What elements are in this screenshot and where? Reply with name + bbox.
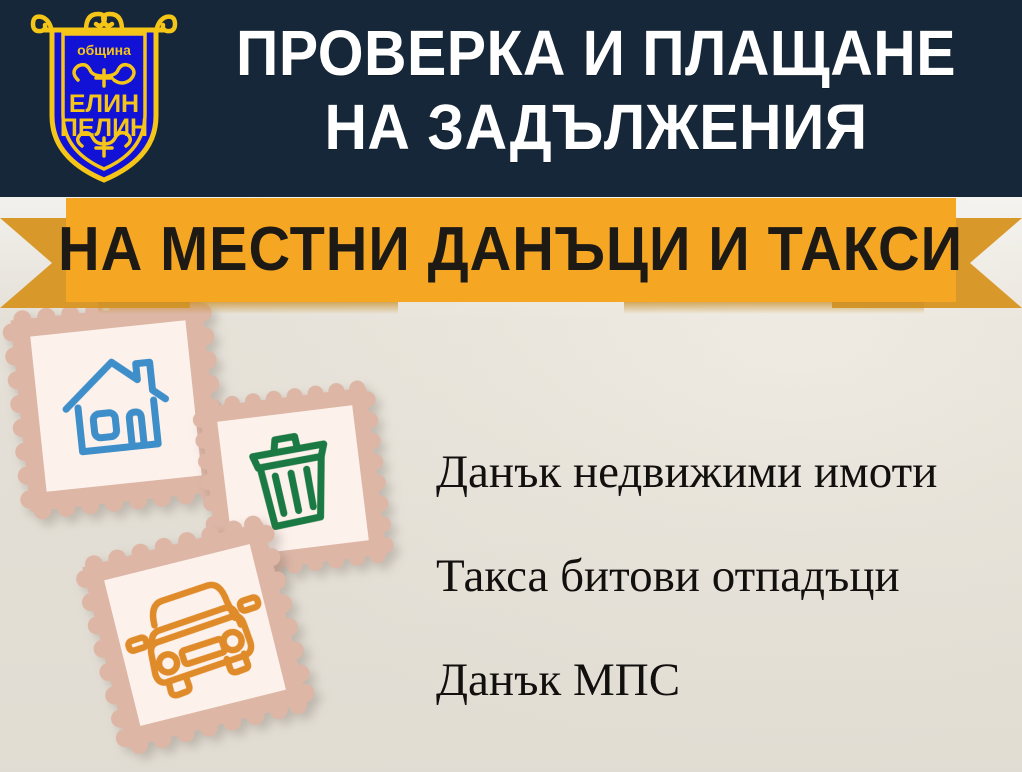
list-item[interactable]: Такса битови отпадъци	[398, 524, 1008, 628]
arrow-pentagon-bullet-icon	[398, 670, 418, 694]
poster-root: община ЕЛИН ПЕЛИН ПРОВЕРКА И ПЛАЩАНЕ НА …	[0, 0, 1022, 772]
municipality-logo: община ЕЛИН ПЕЛИН	[30, 8, 178, 186]
arrow-pentagon-bullet-icon	[398, 566, 418, 590]
page-title: ПРОВЕРКА И ПЛАЩАНЕ НА ЗАДЪЛЖЕНИЯ	[186, 16, 1006, 164]
page-title-line-1: ПРОВЕРКА И ПЛАЩАНЕ	[219, 16, 973, 90]
arrow-pentagon-bullet-icon	[398, 462, 418, 486]
ribbon-fold-shadow-right	[624, 300, 924, 314]
logo-name-line-2: ПЕЛИН	[60, 114, 148, 142]
list-item[interactable]: Данък недвижими имоти	[398, 420, 1008, 524]
ribbon-label: НА МЕСТНИ ДАНЪЦИ И ТАКСИ	[59, 219, 964, 281]
list-item[interactable]: Данък МПС	[398, 628, 1008, 732]
tax-type-list: Данък недвижими имоти Такса битови отпад…	[398, 420, 1008, 732]
ribbon-band: НА МЕСТНИ ДАНЪЦИ И ТАКСИ	[66, 198, 956, 302]
header-bar: община ЕЛИН ПЕЛИН ПРОВЕРКА И ПЛАЩАНЕ НА …	[0, 0, 1022, 197]
list-item-label: Данък недвижими имоти	[436, 446, 937, 498]
list-item-label: Данък МПС	[436, 654, 680, 706]
page-title-line-2: НА ЗАДЪЛЖЕНИЯ	[219, 90, 973, 164]
list-item-label: Такса битови отпадъци	[436, 550, 900, 602]
logo-municipality-word: община	[77, 42, 131, 58]
shield-crest-icon: община ЕЛИН ПЕЛИН	[30, 8, 178, 186]
ribbon-banner: НА МЕСТНИ ДАНЪЦИ И ТАКСИ	[0, 196, 1022, 308]
ribbon-fold-shadow-left	[98, 300, 398, 314]
